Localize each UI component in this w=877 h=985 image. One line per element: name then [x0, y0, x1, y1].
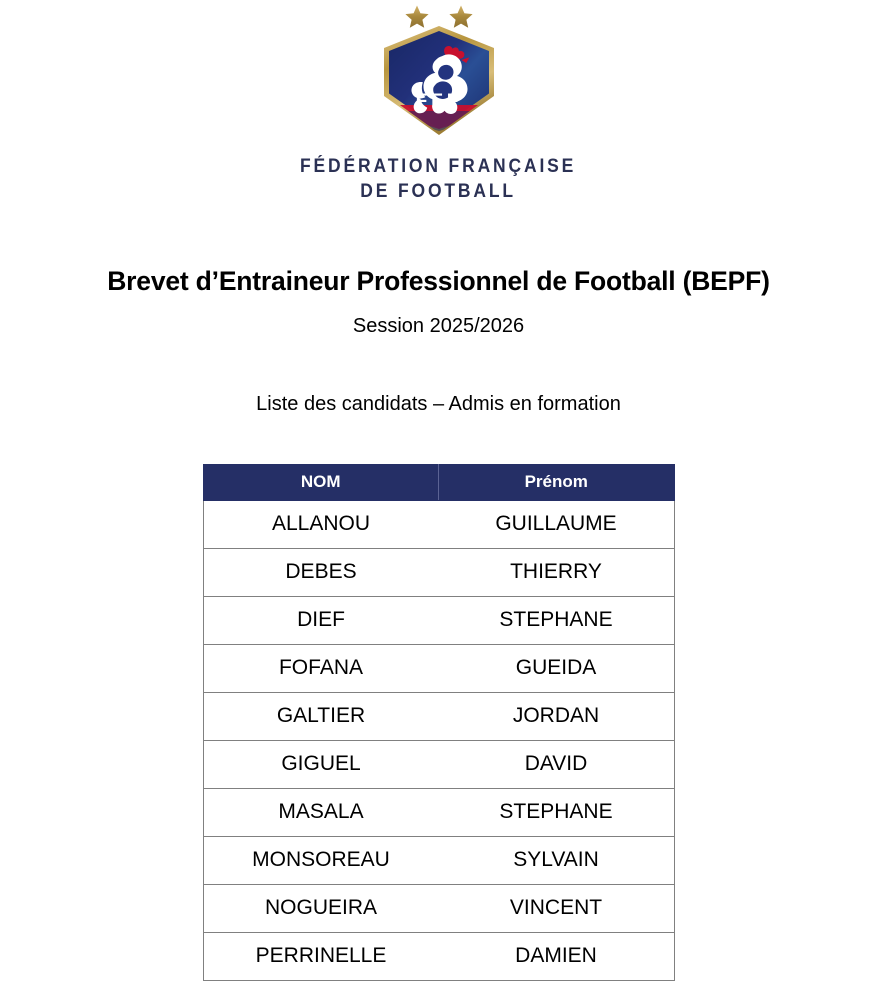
cell-nom: MASALA [203, 788, 439, 836]
column-header-prenom: Prénom [439, 464, 675, 500]
table-header-row: NOM Prénom [203, 464, 674, 500]
candidates-table-container: NOM Prénom ALLANOUGUILLAUMEDEBESTHIERRYD… [0, 464, 877, 981]
cell-prenom: DAVID [439, 740, 675, 788]
cell-nom: FOFANA [203, 644, 439, 692]
cell-prenom: STEPHANE [439, 596, 675, 644]
cell-prenom: VINCENT [439, 884, 675, 932]
wordmark-line-1: FÉDÉRATION FRANÇAISE [300, 156, 576, 177]
cell-prenom: THIERRY [439, 548, 675, 596]
cell-prenom: GUILLAUME [439, 500, 675, 548]
cell-prenom: STEPHANE [439, 788, 675, 836]
cell-nom: MONSOREAU [203, 836, 439, 884]
table-row: DEBESTHIERRY [203, 548, 674, 596]
table-row: NOGUEIRAVINCENT [203, 884, 674, 932]
session-subtitle: Session 2025/2026 [0, 315, 877, 338]
table-row: DIEFSTEPHANE [203, 596, 674, 644]
table-head: NOM Prénom [203, 464, 674, 500]
column-header-nom: NOM [203, 464, 439, 500]
table-row: GALTIERJORDAN [203, 692, 674, 740]
table-row: ALLANOUGUILLAUME [203, 500, 674, 548]
shield-icon: FFF [380, 25, 498, 137]
cell-prenom: GUEIDA [439, 644, 675, 692]
list-caption: Liste des candidats – Admis en formation [0, 393, 877, 416]
cell-prenom: JORDAN [439, 692, 675, 740]
cell-prenom: DAMIEN [439, 932, 675, 980]
cell-nom: GIGUEL [203, 740, 439, 788]
crest-letters: FFF [415, 91, 462, 112]
federation-wordmark: FÉDÉRATION FRANÇAISE DE FOOTBALL [300, 154, 576, 204]
table-row: MASALASTEPHANE [203, 788, 674, 836]
cell-nom: ALLANOU [203, 500, 439, 548]
table-row: PERRINELLEDAMIEN [203, 932, 674, 980]
table-body: ALLANOUGUILLAUMEDEBESTHIERRYDIEFSTEPHANE… [203, 500, 674, 980]
cell-nom: PERRINELLE [203, 932, 439, 980]
cell-nom: GALTIER [203, 692, 439, 740]
table-row: MONSOREAUSYLVAIN [203, 836, 674, 884]
table-row: FOFANAGUEIDA [203, 644, 674, 692]
wordmark-line-2: DE FOOTBALL [300, 179, 576, 204]
cell-nom: DEBES [203, 548, 439, 596]
candidates-table: NOM Prénom ALLANOUGUILLAUMEDEBESTHIERRYD… [203, 464, 675, 981]
federation-logo: FFF FÉDÉRATION FRANÇAISE DE FOOTBALL [0, 0, 877, 204]
cell-prenom: SYLVAIN [439, 836, 675, 884]
page-title: Brevet d’Entraineur Professionnel de Foo… [0, 266, 877, 297]
cell-nom: NOGUEIRA [203, 884, 439, 932]
table-row: GIGUELDAVID [203, 740, 674, 788]
cell-nom: DIEF [203, 596, 439, 644]
fff-crest: FFF [344, 4, 534, 136]
